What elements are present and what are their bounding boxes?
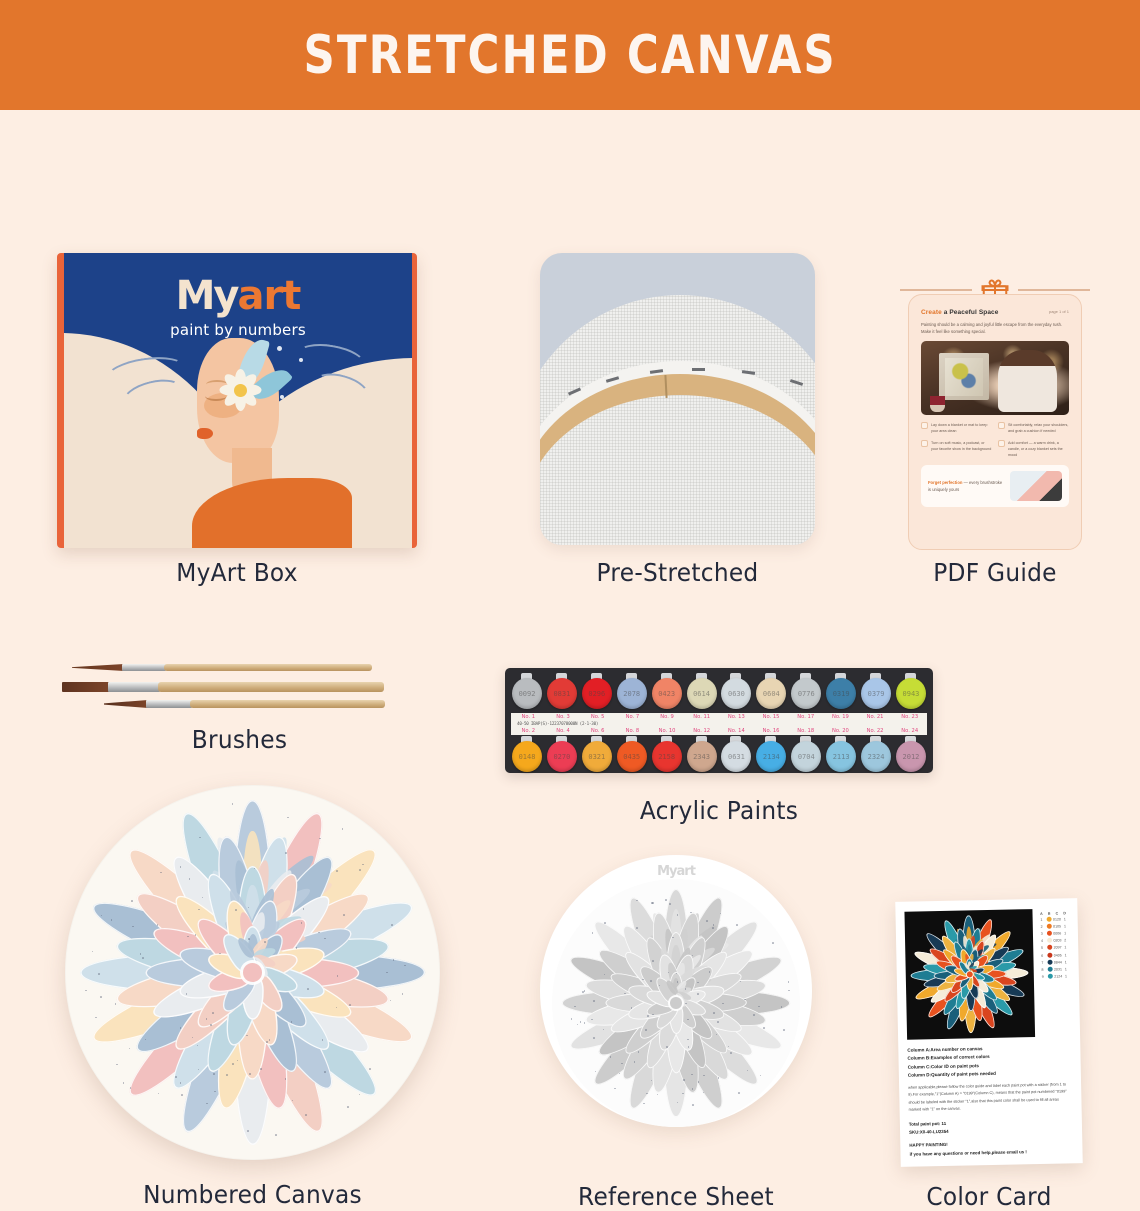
cell-area-number: 6: [1038, 953, 1046, 957]
brush-flat: [62, 682, 384, 692]
pot-code: 0614: [693, 690, 710, 698]
label-top: No. 19: [823, 714, 858, 720]
mandala-dot: [706, 920, 708, 922]
pot-body: 0321: [582, 741, 612, 772]
mandala-dot: [709, 971, 711, 973]
brush-handle: [158, 682, 384, 692]
pot-code: 2078: [623, 690, 640, 698]
paint-number-label: No. 7No. 8: [615, 713, 650, 735]
paint-pot: 0435: [616, 736, 648, 775]
pot-body: 0270: [547, 741, 577, 772]
mandala-dot: [285, 852, 287, 854]
label-bottom: No. 8: [615, 728, 650, 734]
tip-bullet-icon: [998, 440, 1005, 447]
mandala-dot: [322, 1039, 324, 1041]
brush-bristles: [62, 682, 110, 692]
label-top: No. 17: [788, 714, 823, 720]
pot-code: 0148: [519, 753, 536, 761]
pot-body: 0148: [512, 741, 542, 772]
mandala-dot: [336, 870, 338, 872]
label-bottom: No. 10: [650, 728, 685, 734]
mandala-dot: [692, 1104, 694, 1106]
pot-body: 0379: [861, 678, 891, 709]
pot-code: 0704: [798, 753, 815, 761]
paint-pot: 0379: [860, 673, 892, 712]
pot-body: 0604: [756, 678, 786, 709]
mandala-dot: [593, 1000, 595, 1002]
acrylic-paints-tray: 0092083102962078042306140630060407760319…: [505, 668, 933, 773]
pot-body: 0614: [687, 678, 717, 709]
paint-pot: 0776: [790, 673, 822, 712]
tip-text: Turn on soft music, a podcast, or your f…: [931, 440, 992, 458]
table-body: 1012012010513000614020325209716040517084…: [1038, 915, 1070, 980]
cell-color-id: 0006: [1053, 931, 1061, 935]
box-tagline: paint by numbers: [64, 321, 412, 339]
mandala-dot: [342, 828, 344, 830]
pdf-heading-rest: a Peaceful Space: [942, 309, 999, 316]
cell-color-id: 0405: [1054, 953, 1062, 957]
mandala-dot: [643, 1103, 645, 1105]
caption-color-card: Color Card: [904, 1182, 1073, 1211]
mandala-dot: [577, 1024, 579, 1026]
mandala-pattern: [65, 785, 440, 1160]
cell-quantity: 1: [1061, 924, 1069, 928]
daisy-flower-icon: [218, 368, 262, 412]
pot-code: 2158: [658, 753, 675, 761]
table-header-cell: D: [1061, 911, 1069, 915]
pot-code: 0092: [519, 690, 536, 698]
brush-ferrule: [146, 700, 192, 708]
mandala-dot: [219, 953, 221, 955]
brushes-image: [62, 658, 417, 728]
pdf-guide-image: Create a Peaceful Space page 1 of 1 Pain…: [900, 270, 1090, 550]
mandala-dot: [571, 1018, 573, 1020]
brush-handle: [164, 664, 372, 671]
card-text-body: Column A:Area number on canvas Column B:…: [907, 1043, 1073, 1158]
cell-area-number: 1: [1038, 917, 1046, 921]
paint-pot: 0943: [895, 673, 927, 712]
label-top: No. 11: [684, 714, 719, 720]
divider-right: [1018, 289, 1090, 291]
mandala-dot: [347, 1106, 349, 1108]
mandala-pattern-vivid: [904, 909, 1035, 1040]
mandala-dot: [131, 900, 133, 902]
daisy-core: [234, 384, 247, 397]
pot-body: 0943: [896, 678, 926, 709]
cell-color-swatch: [1045, 916, 1053, 922]
label-top: No. 13: [719, 714, 754, 720]
pdf-guide-card: Create a Peaceful Space page 1 of 1 Pain…: [908, 294, 1082, 550]
pdf-page-label: page 1 of 1: [1049, 309, 1069, 314]
pdf-heading-highlight: Create: [921, 309, 942, 316]
logo-my-text: My: [176, 273, 238, 319]
tip-bullet-icon: [921, 440, 928, 447]
cell-area-number: 4: [1038, 939, 1046, 943]
mandala-dot: [645, 1029, 647, 1031]
mandala-dot: [666, 1046, 668, 1048]
table-header-cell: A: [1037, 912, 1045, 916]
pot-code: 0776: [798, 690, 815, 698]
cell-color-id: 0105: [1053, 924, 1061, 928]
pot-code: 0943: [903, 690, 920, 698]
table-header-cell: C: [1053, 911, 1061, 915]
mandala-dot: [604, 922, 606, 924]
mandala-dot: [264, 941, 266, 943]
tip-bullet-icon: [921, 422, 928, 429]
paint-number-label: No. 11No. 12: [684, 713, 719, 735]
pot-code: 0631: [728, 753, 745, 761]
paint-pot: 0270: [546, 736, 578, 775]
cell-color-id: 2031: [1054, 967, 1062, 971]
cell-area-number: 5: [1038, 946, 1046, 950]
paint-number-label: No. 9No. 10: [650, 713, 685, 735]
mandala-dot: [718, 1077, 720, 1079]
mandala-dot: [763, 1027, 765, 1029]
label-top: No. 15: [754, 714, 789, 720]
label-bottom: No. 24: [892, 728, 927, 734]
mandala-dot: [669, 903, 671, 905]
mandala-dot: [369, 1068, 371, 1070]
mandala-dot: [736, 924, 738, 926]
mandala-dot: [650, 980, 652, 982]
column-legend: Column A:Area number on canvas Column B:…: [907, 1043, 1072, 1080]
mandala-dot: [212, 1012, 214, 1014]
pot-code: 2343: [693, 753, 710, 761]
pot-code: 2134: [763, 753, 780, 761]
label-bottom: No. 14: [719, 728, 754, 734]
mandala-dot: [116, 1064, 118, 1066]
card-totals: Total paint pot: 11 SKU:X0-40-LU2354: [909, 1117, 1073, 1137]
paint-pot: 2324: [860, 736, 892, 775]
mandala-dot: [85, 990, 87, 992]
pot-body: 2113: [826, 741, 856, 772]
mandala-dot: [359, 1094, 361, 1096]
cell-color-swatch: [1046, 974, 1054, 980]
paint-pot: 2113: [825, 736, 857, 775]
mandala-dot: [760, 1075, 762, 1077]
paint-pot-row-top: 0092083102962078042306140630060407760319…: [511, 673, 927, 712]
mandala-dot: [580, 1021, 582, 1023]
cell-area-number: 9: [1039, 975, 1047, 979]
pot-code: 0270: [553, 753, 570, 761]
paint-label-strip: 40-50 IBAP(S)-12237078000N (2-1-30) No. …: [511, 713, 927, 735]
brush-closeup-photo: [1010, 471, 1062, 501]
mandala-dot: [324, 938, 326, 940]
mandala-dot: [691, 1074, 693, 1076]
pot-body: 0776: [791, 678, 821, 709]
label-top: No. 21: [858, 714, 893, 720]
paint-pot: 2158: [651, 736, 683, 775]
easel-painting: [939, 353, 989, 400]
label-bottom: No. 12: [684, 728, 719, 734]
myart-box-image: Myart paint by numbers: [57, 253, 417, 548]
table-row: 921241: [1039, 973, 1070, 981]
mandala-dot: [158, 1093, 160, 1095]
mandala-dot: [291, 1021, 293, 1023]
cell-quantity: 1: [1062, 974, 1070, 978]
mandala-dot: [584, 1022, 586, 1024]
caption-numbered-canvas: Numbered Canvas: [78, 1180, 427, 1209]
pot-code: 0831: [553, 690, 570, 698]
mandala-dot: [210, 1024, 212, 1026]
mandala-dot: [123, 1082, 125, 1084]
paint-pot: 2134: [755, 736, 787, 775]
paint-pot: 2343: [686, 736, 718, 775]
reference-disc: [552, 879, 800, 1127]
cell-color-swatch: [1046, 959, 1054, 965]
mandala-dot: [98, 973, 100, 975]
cell-quantity: 1: [1062, 960, 1070, 964]
brush-round-fine: [72, 664, 372, 671]
mandala-dot: [343, 914, 345, 916]
paint-pot: 0296: [581, 673, 613, 712]
cell-area-number: 2: [1038, 925, 1046, 929]
mandala-dot: [593, 1037, 595, 1039]
pdf-photo: [921, 341, 1069, 415]
mandala-dot: [788, 981, 790, 983]
paint-pot: 2078: [616, 673, 648, 712]
reference-logo: Myart: [540, 864, 812, 879]
pot-code: 0423: [658, 690, 675, 698]
pdf-tip: Turn on soft music, a podcast, or your f…: [921, 440, 992, 458]
mandala-dot: [180, 866, 182, 868]
mandala-dot: [296, 947, 298, 949]
paint-pot-row-bottom: 0148027003210435215823430631213407042113…: [511, 736, 927, 775]
mandala-dot: [404, 965, 406, 967]
page-title: STRETCHED CANVAS: [303, 25, 836, 86]
pdf-lead-text: Painting should be a calming and joyful …: [921, 321, 1069, 335]
cell-color-swatch: [1045, 923, 1053, 929]
label-top: No. 5: [580, 714, 615, 720]
cell-color-id: 0844: [1054, 960, 1062, 964]
cell-quantity: 1: [1062, 967, 1070, 971]
box-logo: Myart paint by numbers: [64, 273, 412, 339]
caption-reference-sheet: Reference Sheet: [550, 1182, 803, 1211]
card-instructions: when applicable,please follow the color …: [908, 1081, 1073, 1114]
cell-color-id: 2097: [1054, 946, 1062, 950]
mandala-pattern-grayscale: [552, 879, 800, 1127]
paint-pot: 0423: [651, 673, 683, 712]
mandala-dot: [337, 975, 339, 977]
cell-color-swatch: [1046, 931, 1054, 937]
paint-pot: 0092: [511, 673, 543, 712]
canvas-wrapped-edge: [540, 361, 815, 545]
pot-body: 0631: [721, 741, 751, 772]
label-bottom: No. 6: [580, 728, 615, 734]
pot-body: 0296: [582, 678, 612, 709]
pot-body: 0092: [512, 678, 542, 709]
label-bottom: No. 18: [788, 728, 823, 734]
mandala-dot: [232, 1063, 234, 1065]
mandala-dot: [349, 1004, 351, 1006]
paint-pot: 0321: [581, 736, 613, 775]
paint-number-label: No. 3No. 4: [546, 713, 581, 735]
paint-pot: 0148: [511, 736, 543, 775]
mandala-dot: [130, 1087, 132, 1089]
pot-body: 0319: [826, 678, 856, 709]
paint-pot: 0614: [686, 673, 718, 712]
paint-number-label: No. 17No. 18: [788, 713, 823, 735]
lips: [197, 428, 213, 439]
mandala-dot: [730, 1052, 732, 1054]
mandala-dot: [753, 1014, 755, 1016]
label-top: No. 3: [546, 714, 581, 720]
numbered-canvas-image: [65, 785, 440, 1160]
pot-code: 0604: [763, 690, 780, 698]
caption-acrylic-paints: Acrylic Paints: [520, 796, 918, 825]
paint-number-label: No. 19No. 20: [823, 713, 858, 735]
paint-number-label: No. 23No. 24: [892, 713, 927, 735]
mandala-center: [243, 963, 262, 982]
tip-text: Lay down a blanket or mat to keep your a…: [931, 422, 992, 434]
mandala-dot: [189, 878, 191, 880]
cell-area-number: 7: [1039, 961, 1047, 965]
cell-color-id: 0203: [1053, 939, 1061, 943]
cell-color-swatch: [1046, 967, 1054, 973]
cell-color-swatch: [1046, 938, 1054, 944]
mandala-dot: [781, 1006, 783, 1008]
mandala-dot: [305, 1114, 307, 1116]
pot-code: 0379: [868, 690, 885, 698]
mandala-dot: [142, 957, 144, 959]
tip-bullet-icon: [998, 422, 1005, 429]
mandala-dot: [266, 1041, 268, 1043]
pdf-tip: Lay down a blanket or mat to keep your a…: [921, 422, 992, 434]
cell-area-number: 3: [1038, 932, 1046, 936]
mandala-dot: [198, 909, 200, 911]
pot-code: 0435: [623, 753, 640, 761]
mandala-dot: [783, 1029, 785, 1031]
table-header-cell: B: [1045, 912, 1053, 916]
mandala-dot: [636, 927, 638, 929]
cell-quantity: 1: [1062, 946, 1070, 950]
brush-bristles: [104, 700, 148, 708]
cell-quantity: 1: [1061, 917, 1069, 921]
label-bottom: No. 16: [754, 728, 789, 734]
mandala-dot: [638, 1051, 640, 1053]
pot-body: 2343: [687, 741, 717, 772]
caption-brushes: Brushes: [74, 725, 404, 754]
reference-sheet-image: Myart: [540, 855, 812, 1127]
mandala-dot: [682, 1093, 684, 1095]
mandala-dot: [717, 1021, 719, 1023]
pdf-heading: Create a Peaceful Space: [921, 309, 1069, 316]
box-front-face: Myart paint by numbers: [64, 253, 412, 548]
paint-pot: 0630: [720, 673, 752, 712]
brush-handle: [190, 700, 385, 708]
sparkle-dot: [280, 395, 284, 399]
brush-ferrule: [108, 682, 160, 692]
footer-highlight: Forget perfection: [928, 480, 962, 485]
color-card-image: ABCD 10120120105130006140203252097160405…: [895, 898, 1083, 1167]
mandala-dot: [712, 927, 714, 929]
label-bottom: No. 22: [858, 728, 893, 734]
mandala-dot: [181, 1094, 183, 1096]
mandala-dot: [275, 1134, 277, 1136]
paint-pot: 0704: [790, 736, 822, 775]
sparkle-dot: [277, 346, 282, 351]
mandala-dot: [213, 1073, 215, 1075]
label-bottom: No. 20: [823, 728, 858, 734]
pot-code: 0296: [588, 690, 605, 698]
pot-body: 2012: [896, 741, 926, 772]
mandala-dot: [287, 817, 289, 819]
paint-pot: 0319: [825, 673, 857, 712]
mandala-dot: [232, 803, 234, 805]
mandala-dot: [738, 1092, 740, 1094]
mandala-dot: [631, 1007, 633, 1009]
cell-quantity: 1: [1061, 931, 1069, 935]
pdf-tips-list: Lay down a blanket or mat to keep your a…: [921, 422, 1069, 458]
mandala-dot: [722, 1003, 724, 1005]
tip-text: Add comfort — a warm drink, a candle, or…: [1008, 440, 1069, 458]
pot-code: 0630: [728, 690, 745, 698]
caption-pre-stretched: Pre-Stretched: [550, 558, 806, 587]
mandala-dot: [100, 996, 102, 998]
mandala-dot: [772, 942, 774, 944]
pdf-footer-note: Forget perfection — every brushstroke is…: [921, 465, 1069, 507]
person-painting: [998, 350, 1057, 412]
mandala-dot: [260, 1068, 262, 1070]
cell-area-number: 8: [1039, 968, 1047, 972]
pot-code: 0319: [833, 690, 850, 698]
staple: [692, 368, 705, 371]
cell-color-swatch: [1046, 945, 1054, 951]
label-bottom: No. 2: [511, 728, 546, 734]
paint-number-label: No. 21No. 22: [858, 713, 893, 735]
mandala-dot: [683, 1079, 685, 1081]
mandala-dot: [359, 869, 361, 871]
footer-text: Forget perfection — every brushstroke is…: [928, 479, 1004, 493]
mandala-dot: [324, 1071, 326, 1073]
cell-quantity: 1: [1062, 953, 1070, 957]
mandala-dot: [688, 1046, 690, 1048]
brush-round-medium: [104, 700, 385, 708]
pre-stretched-image: [540, 253, 815, 545]
mandala-dot: [249, 1073, 251, 1075]
mandala-dot: [788, 990, 790, 992]
label-bottom: No. 4: [546, 728, 581, 734]
mandala-dot: [307, 988, 309, 990]
product-grid: Myart paint by numbers MyArt Box Pre-Str…: [0, 110, 1140, 1140]
mandala-dot: [175, 1076, 177, 1078]
pot-body: 0423: [652, 678, 682, 709]
mandala-dot: [248, 938, 250, 940]
card-top-row: ABCD 10120120105130006140203252097160405…: [904, 908, 1071, 1039]
mandala-dot: [247, 1130, 249, 1132]
mandala-dot: [652, 1014, 654, 1016]
pot-code: 2012: [903, 753, 920, 761]
mandala-dot: [115, 1003, 117, 1005]
label-top: No. 9: [650, 714, 685, 720]
mandala-dot: [95, 1017, 97, 1019]
brush-bristles: [72, 664, 124, 671]
pot-body: 0630: [721, 678, 751, 709]
caption-pdf-guide: PDF Guide: [907, 558, 1084, 587]
pot-body: 0704: [791, 741, 821, 772]
mandala-dot: [713, 1012, 715, 1014]
pot-body: 2324: [861, 741, 891, 772]
brush-ferrule: [122, 664, 166, 671]
label-top: No. 1: [511, 714, 546, 720]
mandala-dot: [697, 993, 699, 995]
logo-art-text: art: [238, 273, 301, 319]
paint-pot: 0831: [546, 673, 578, 712]
sparkle-dot: [299, 358, 303, 362]
pdf-tip: Sit comfortably, relax your shoulders, a…: [998, 422, 1069, 434]
mandala-dot: [582, 991, 584, 993]
pot-body: 0435: [617, 741, 647, 772]
